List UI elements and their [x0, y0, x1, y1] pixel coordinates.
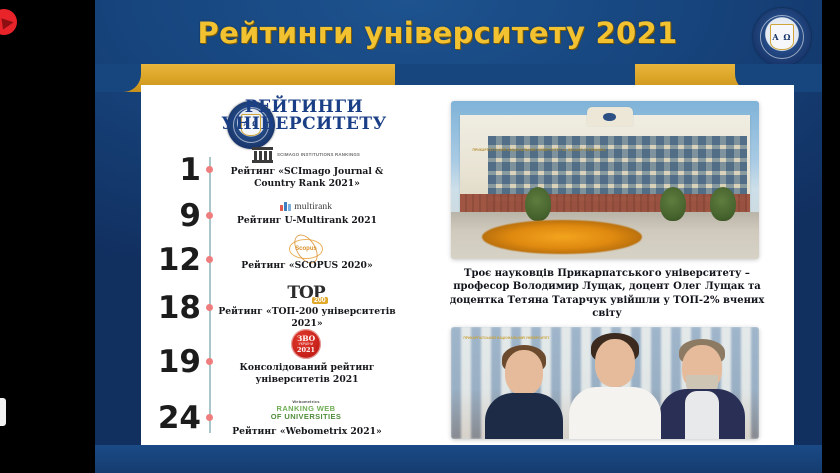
- person-center: [569, 331, 661, 439]
- person-left: [485, 339, 563, 439]
- ranking-label: Рейтинг U-Multirank 2021: [215, 215, 399, 227]
- zvo-2021-seal-logo: ЗВО УКРАЇНИ 2021: [221, 328, 391, 360]
- university-building-photo: ПРИКАРПАТСЬКИЙ НАЦІОНАЛЬНИЙ УНІВЕРСИТЕТ …: [451, 101, 759, 259]
- timeline-dot: [206, 166, 213, 173]
- scopus-logo: Scopus: [221, 237, 391, 260]
- scimago-logo-text: SCIMAGO INSTITUTIONS RANKINGS: [277, 152, 360, 158]
- zvo-seal-year: 2021: [297, 347, 315, 354]
- ranking-number: 19: [155, 347, 201, 378]
- edge-sliver: [0, 398, 6, 426]
- webometrics-logo: Webometrics RANKING WEB OF UNIVERSITIES: [221, 399, 391, 423]
- top-200-logo: TOP 200: [221, 281, 391, 304]
- three-scientists-photo: ПРИКАРПАТСЬКИЙ НАЦІОНАЛЬНИЙ УНІВЕРСИТЕТ: [451, 327, 759, 439]
- slide-bottom-bar: [95, 445, 840, 473]
- timeline-dot: [206, 304, 213, 311]
- slide-header: Рейтинги університету 2021 A Ω: [95, 0, 840, 73]
- ranking-label: Рейтинг «ТОП-200 університетів 2021»: [215, 306, 399, 329]
- timeline-dot: [206, 358, 213, 365]
- person-right: [659, 335, 745, 439]
- right-column: ПРИКАРПАТСЬКИЙ НАЦІОНАЛЬНИЙ УНІВЕРСИТЕТ …: [429, 85, 784, 445]
- photo-caption: Троє науковців Прикарпатського університ…: [439, 267, 775, 321]
- top200-logo-badge: 200: [312, 297, 328, 304]
- ranking-label: Рейтинг «Webometrix 2021»: [215, 426, 399, 438]
- scimago-institutions-rankings-logo: SCIMAGO INSTITUTIONS RANKINGS: [221, 143, 391, 166]
- ranking-number: 9: [155, 201, 201, 232]
- timeline-dot: [206, 414, 213, 421]
- ranking-number: 18: [155, 293, 201, 324]
- university-emblem-icon: A Ω: [753, 8, 811, 66]
- timeline-dot: [206, 256, 213, 263]
- webometrics-logo-line3: OF UNIVERSITIES: [271, 413, 342, 422]
- timeline-axis: [209, 157, 211, 433]
- page-title: Рейтинги університету 2021: [95, 16, 840, 50]
- rankings-infographic: A Ω РЕЙТИНГИ УНІВЕРСИТЕТУ: [151, 85, 403, 445]
- ranking-label: Консолідований рейтинг університетів 202…: [215, 362, 399, 385]
- rankings-heading-line2: УНІВЕРСИТЕТУ: [211, 116, 397, 133]
- emblem-shield-letters: A Ω: [770, 24, 794, 51]
- screen-root: ▶ Рейтинги університету 2021 A Ω A Ω: [0, 0, 840, 473]
- gold-notch-left: [95, 64, 141, 92]
- presentation-slide[interactable]: Рейтинги університету 2021 A Ω A Ω РЕЙТИ…: [95, 0, 840, 473]
- multirank-logo-text: multirank: [294, 202, 332, 212]
- ranking-label: Рейтинг «SCImago Journal & Country Rank …: [215, 166, 399, 189]
- ranking-number: 1: [155, 155, 201, 186]
- slide-content-panel: A Ω РЕЙТИНГИ УНІВЕРСИТЕТУ: [141, 85, 794, 445]
- timeline-dot: [206, 212, 213, 219]
- recording-glyph: ▶: [1, 12, 15, 31]
- building-sign-text: ПРИКАРПАТСЬКИЙ НАЦІОНАЛЬНИЙ УНІВЕРСИТЕТ …: [473, 148, 606, 152]
- rankings-heading: РЕЙТИНГИ УНІВЕРСИТЕТУ: [211, 99, 397, 134]
- ranking-number: 24: [155, 403, 201, 434]
- ranking-label: Рейтинг «SCOPUS 2020»: [215, 260, 399, 272]
- recording-badge-icon[interactable]: ▶: [0, 9, 17, 35]
- letterbox-right: [822, 0, 840, 473]
- ranking-number: 12: [155, 245, 201, 276]
